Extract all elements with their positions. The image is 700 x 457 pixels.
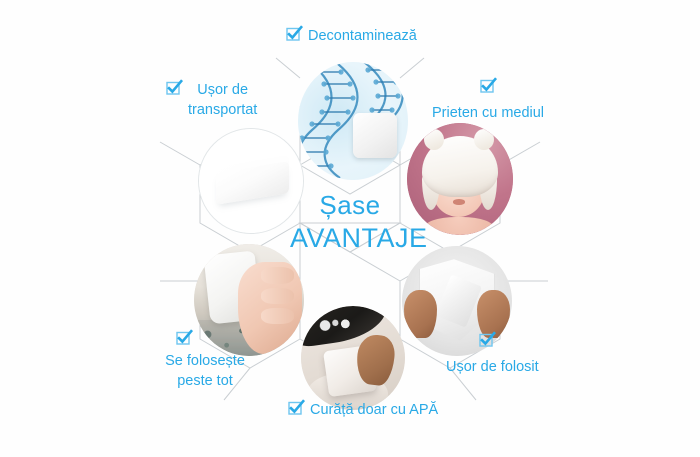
feature-label-text-line2: transportat (188, 100, 257, 120)
checkbox-checked-icon (480, 78, 495, 93)
title-line-1: Șase (290, 190, 410, 222)
finger (261, 288, 294, 305)
checkbox-checked-icon (176, 330, 191, 345)
feature-label-text: Ușor de folosit (446, 357, 539, 377)
checkbox-checked-icon (479, 332, 494, 347)
feature-label-text: Decontaminează (308, 26, 417, 46)
feature-label-text-line1: Ușor de (188, 80, 257, 100)
title-line-2: AVANTAJE (290, 222, 410, 255)
feature-label-text: Curăță doar cu APĂ (310, 400, 438, 420)
feature-label-eco-friendly: Prieten cu mediul (432, 78, 544, 123)
feature-label-text: Prieten cu mediul (432, 103, 544, 123)
sponge-block-shape (353, 113, 397, 158)
feature-label-easy-to-use: Ușor de folosit (446, 332, 539, 377)
towel-hat-ear-right (474, 129, 494, 150)
towel-hat-ear-left (424, 129, 444, 150)
infographic-canvas: Decontaminează Ușor de transportat (0, 0, 700, 457)
hand-shape-left (404, 290, 437, 338)
feature-label-easy-to-transport: Ușor de transportat (166, 80, 257, 120)
finger (261, 267, 294, 284)
feature-label-text-line2: peste tot (155, 371, 255, 391)
feature-image-easy-to-transport (198, 128, 304, 234)
feature-label-use-everywhere: Se folosește peste tot (155, 330, 255, 391)
feature-image-eco-friendly (407, 123, 513, 235)
feature-label-text-line1: Se folosește (155, 351, 255, 371)
checkbox-checked-icon (288, 400, 303, 415)
feature-image-cleans-with-water (301, 306, 405, 410)
baby-mouth (453, 199, 466, 205)
page-title: Șase AVANTAJE (290, 190, 410, 255)
feature-label-decontaminates: Decontaminează (286, 26, 417, 46)
checkbox-checked-icon (166, 80, 181, 95)
baby-body-shape (424, 217, 494, 235)
feature-label-cleans-with-water: Curăță doar cu APĂ (288, 400, 438, 420)
finger (261, 308, 294, 325)
checkbox-checked-icon (286, 26, 301, 41)
feature-image-decontaminates (298, 62, 408, 180)
